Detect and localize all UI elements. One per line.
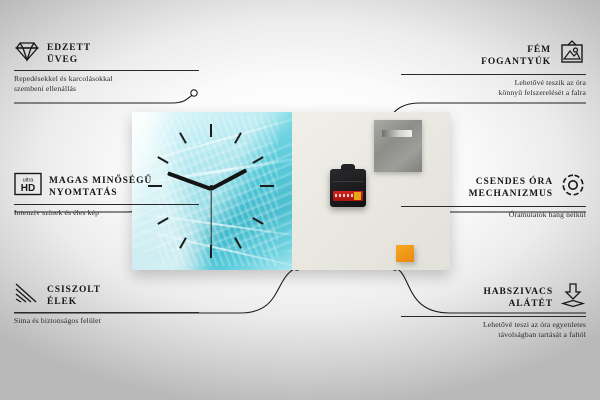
hanger-slot bbox=[382, 130, 412, 137]
clock-tick bbox=[260, 185, 274, 187]
clock-mechanism bbox=[330, 169, 366, 207]
divider bbox=[14, 204, 199, 205]
callout-subtitle: Lehetővé teszik az órakönnyű felszerelés… bbox=[401, 78, 586, 98]
callout-subtitle: Lehetővé teszi az óra egyenletestávolság… bbox=[401, 320, 586, 340]
polished-edges-icon bbox=[14, 282, 40, 309]
divider bbox=[401, 206, 586, 207]
picture-hanger-icon bbox=[558, 40, 586, 71]
divider bbox=[14, 312, 199, 313]
battery bbox=[333, 191, 363, 201]
mechanism-tab bbox=[341, 164, 355, 171]
callout-subtitle: Intenzív színek és éles kép bbox=[14, 208, 199, 218]
callout-title: CSISZOLTÉLEK bbox=[47, 284, 101, 308]
callout-subtitle: Sima és biztonságos felület bbox=[14, 316, 199, 326]
infographic-canvas: EDZETTÜVEG Repedésekkel és karcolásokkal… bbox=[0, 0, 600, 400]
svg-text:HD: HD bbox=[21, 183, 35, 194]
callout-title: CSENDES ÓRAMECHANIZMUS bbox=[469, 176, 553, 200]
mechanism-seam bbox=[333, 181, 363, 182]
divider bbox=[401, 316, 586, 317]
callout-tempered-glass: EDZETTÜVEG Repedésekkel és karcolásokkal… bbox=[14, 40, 199, 94]
callout-polished-edges: CSISZOLTÉLEK Sima és biztonságos felület bbox=[14, 282, 199, 326]
callout-title: EDZETTÜVEG bbox=[47, 42, 91, 66]
battery-plus-terminal bbox=[354, 192, 361, 200]
callout-metal-handles: FÉMFOGANTYÚK Lehetővé teszik az órakönny… bbox=[401, 40, 586, 98]
callout-title: MAGAS MINŐSÉGŰNYOMTATÁS bbox=[49, 175, 152, 199]
callout-hd-print: ultra HD MAGAS MINŐSÉGŰNYOMTATÁS Intenzí… bbox=[14, 172, 199, 218]
metal-hanger bbox=[374, 120, 422, 172]
callout-subtitle: Óramutatók hang nélkül bbox=[401, 210, 586, 220]
gear-icon bbox=[560, 172, 586, 203]
callout-silent-movement: CSENDES ÓRAMECHANIZMUS Óramutatók hang n… bbox=[401, 172, 586, 220]
foam-pad bbox=[396, 245, 414, 262]
clock-hub bbox=[209, 185, 214, 190]
callout-foam-pad: HABSZIVACSALÁTÉT Lehetővé teszi az óra e… bbox=[401, 282, 586, 340]
ultra-hd-icon: ultra HD bbox=[14, 172, 42, 201]
divider bbox=[401, 74, 586, 75]
second-hand bbox=[210, 189, 211, 251]
callout-title: HABSZIVACSALÁTÉT bbox=[483, 286, 553, 310]
diamond-icon bbox=[14, 40, 40, 67]
clock-tick bbox=[210, 124, 212, 137]
callout-subtitle: Repedésekkel és karcolásokkalszembeni el… bbox=[14, 74, 199, 94]
divider bbox=[14, 70, 199, 71]
battery-label bbox=[335, 194, 353, 197]
callout-title: FÉMFOGANTYÚK bbox=[481, 44, 551, 68]
foam-pad-icon bbox=[560, 282, 586, 313]
